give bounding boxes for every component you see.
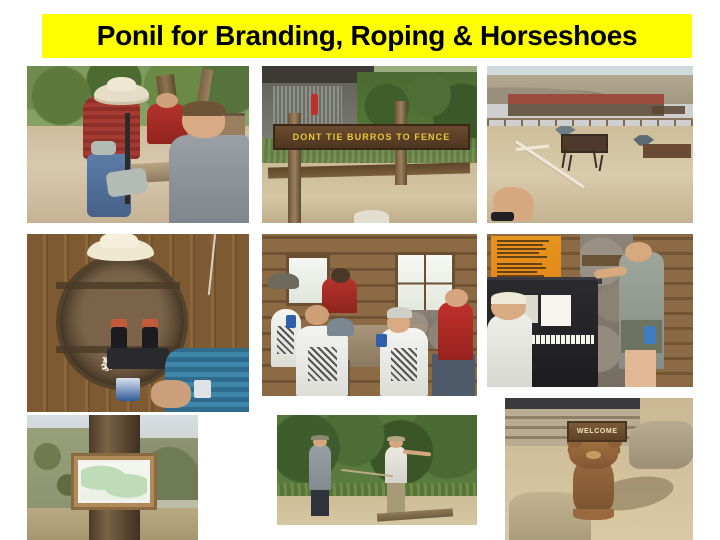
photo-sarsaparilla: SARSAPARILLA Large wooden barrel marked … <box>27 234 249 412</box>
boy-playing-piano <box>487 314 532 387</box>
girl-arm <box>151 380 191 408</box>
map-frame <box>71 453 157 511</box>
bear-snout <box>586 451 601 460</box>
boy-hair <box>182 101 224 117</box>
welcome-sign: WELCOME <box>567 421 627 442</box>
white-ball-cap <box>387 307 413 318</box>
photo-burro-sign: DONT TIE BURROS TO FENCE Wooden corral f… <box>262 66 477 223</box>
photo-welcome-bear: WELCOME Carved wooden bear statue holdin… <box>505 398 693 540</box>
roping-dummy-right <box>633 135 691 176</box>
dispenser-base <box>107 348 169 369</box>
boy-cap <box>491 292 526 304</box>
photo-branding: Scout in cowboy hat with leather gloves … <box>27 66 249 223</box>
gray-ball-cap <box>327 318 355 336</box>
slide-canvas: Ponil for Branding, Roping & Horseshoes … <box>0 0 720 540</box>
photo-piano: Boy in a white cap playing an antique up… <box>487 234 693 387</box>
seated-scout-head <box>445 289 469 307</box>
scout-white-tee-front <box>296 326 348 396</box>
scout-head-left <box>305 305 329 324</box>
foreground-object <box>354 210 388 223</box>
porch-shadow <box>505 398 640 409</box>
flagstone-right <box>629 421 693 469</box>
grass-edge <box>277 483 477 496</box>
work-glove-lower <box>105 167 148 197</box>
photo-trail-map: Framed green trail map nailed to a large… <box>27 415 198 540</box>
dummy-stand <box>568 155 604 171</box>
drink-cup-second <box>194 380 212 398</box>
slide-title-banner: Ponil for Branding, Roping & Horseshoes <box>42 14 692 58</box>
dummy-steer-body <box>561 134 609 153</box>
staff-head <box>331 268 350 283</box>
photo-roping: Hand holding a lariat rope aimed at meta… <box>487 66 693 223</box>
man-legs <box>625 350 656 387</box>
trail-map <box>78 460 150 504</box>
burro-sign-board: DONT TIE BURROS TO FENCE <box>273 124 471 150</box>
brimmed-hat <box>268 273 298 289</box>
water-bottle <box>644 326 656 344</box>
page-title: Ponil for Branding, Roping & Horseshoes <box>97 22 638 50</box>
seated-scout-legs <box>432 354 475 396</box>
drink-can-right <box>376 334 387 347</box>
wrist-band <box>491 212 514 221</box>
roping-dummy-far <box>652 99 685 121</box>
player-right-hat <box>387 436 405 442</box>
welcome-sign-text: WELCOME <box>577 428 618 435</box>
dummy-steer-body <box>643 144 691 158</box>
bear-feet <box>573 509 614 520</box>
scout-white-tee-right <box>380 328 427 396</box>
staff-red-shirt <box>322 278 356 314</box>
work-glove-upper <box>91 141 115 155</box>
wire-mesh-panel <box>273 86 342 127</box>
drink-can-left <box>286 315 297 328</box>
barn-roof <box>508 94 665 103</box>
burro-sign-text: DONT TIE BURROS TO FENCE <box>293 132 451 142</box>
sheet-music <box>541 295 572 326</box>
seated-scout-red-shirt <box>438 302 472 360</box>
photo-cabin-table: Scouts in matching white crew t-shirts s… <box>262 234 477 396</box>
cowboy-hat-crown <box>100 234 138 248</box>
man-head <box>625 242 652 262</box>
fire-extinguisher <box>311 94 317 114</box>
drink-cup <box>116 378 140 401</box>
player-left-body <box>309 444 331 490</box>
photo-horseshoes: Two people in brimmed hats pitching hors… <box>277 415 477 525</box>
barn-wall <box>508 104 665 117</box>
boy-gray-shirt <box>169 135 249 223</box>
cowboy-hat-crown <box>107 77 136 91</box>
player-left-hat <box>311 435 329 441</box>
